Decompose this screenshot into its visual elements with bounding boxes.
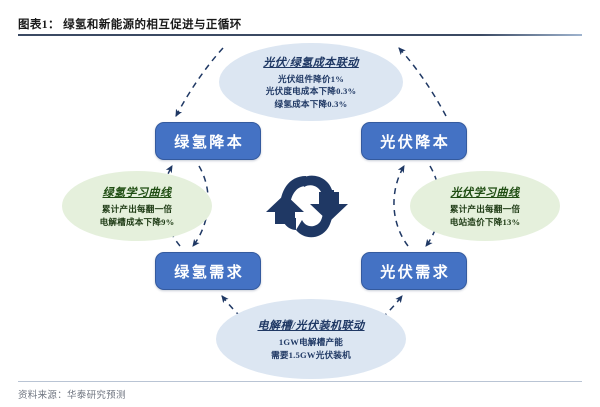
callout-title: 电解槽/光伏装机联动 — [257, 317, 364, 333]
callout-line: 光伏度电成本下降0.3% — [266, 85, 357, 97]
callout-electrolyzer-pv-installation-linkage: 电解槽/光伏装机联动 1GW电解槽产能 需要1.5GW光伏装机 — [216, 299, 406, 379]
callout-line: 累计产出每翻一倍 — [450, 203, 520, 215]
callout-line: 1GW电解槽产能 — [279, 336, 343, 348]
arrow-right-up — [394, 166, 408, 246]
callout-title: 光伏/绿氢成本联动 — [263, 54, 359, 70]
callout-line: 电解槽成本下降9% — [100, 216, 175, 228]
callout-line: 电站造价下降13% — [450, 216, 521, 228]
node-label: 绿氢需求 — [172, 261, 245, 282]
node-pv-cost-reduction[interactable]: 光伏降本 — [361, 122, 467, 160]
callout-title: 光伏学习曲线 — [451, 184, 520, 200]
callout-line: 光伏组件降价1% — [278, 73, 344, 85]
callout-pv-green-hydrogen-cost-linkage: 光伏/绿氢成本联动 光伏组件降价1% 光伏度电成本下降0.3% 绿氢成本下降0.… — [219, 43, 403, 121]
source-note: 资料来源：华泰研究预测 — [18, 387, 126, 401]
arrow-top-left — [176, 48, 223, 116]
node-green-hydrogen-demand[interactable]: 绿氢需求 — [155, 252, 261, 290]
callout-green-hydrogen-learning-curve: 绿氢学习曲线 累计产出每翻一倍 电解槽成本下降9% — [62, 171, 212, 241]
callout-pv-learning-curve: 光伏学习曲线 累计产出每翻一倍 电站造价下降13% — [410, 171, 560, 241]
node-label: 光伏降本 — [378, 131, 451, 152]
node-label: 光伏需求 — [378, 261, 451, 282]
page-title: 图表1： 绿氢和新能源的相互促进与正循环 — [18, 16, 242, 32]
diagram-canvas: 绿氢降本 光伏降本 绿氢需求 光伏需求 光伏/绿氢成本联动 光伏组件降价1% 光… — [0, 36, 600, 380]
callout-line: 绿氢成本下降0.3% — [275, 98, 348, 110]
node-pv-demand[interactable]: 光伏需求 — [361, 252, 467, 290]
callout-line: 需要1.5GW光伏装机 — [271, 349, 351, 361]
node-label: 绿氢降本 — [172, 131, 245, 152]
node-green-hydrogen-cost-reduction[interactable]: 绿氢降本 — [155, 122, 261, 160]
footer-divider — [18, 381, 582, 382]
cycle-arrows-icon — [258, 168, 354, 248]
arrow-top-right — [399, 48, 446, 116]
callout-title: 绿氢学习曲线 — [103, 184, 172, 200]
callout-line: 累计产出每翻一倍 — [102, 203, 172, 215]
figure-container: 图表1： 绿氢和新能源的相互促进与正循环 — [0, 0, 600, 407]
